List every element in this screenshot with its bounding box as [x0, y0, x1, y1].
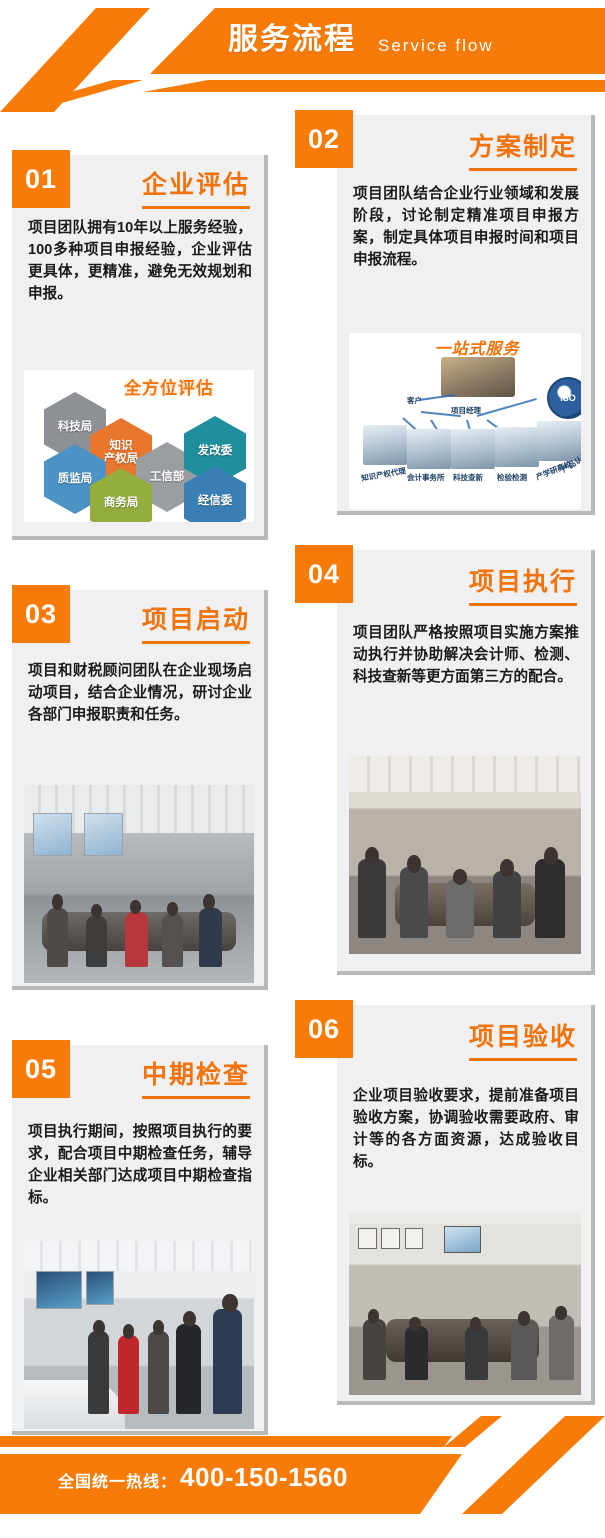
- hexagon-label: 发改委: [198, 445, 233, 458]
- card-text-04: 项目团队严格按照项目实施方案推动执行并协助解决会计师、检测、科技查新等更方面第三…: [353, 622, 579, 688]
- figure-photo-conference-table: [349, 756, 581, 954]
- card-title-05: 中期检查: [142, 1059, 250, 1099]
- figure-photo-meeting-room: [24, 785, 254, 983]
- footer-orange-stripe: [0, 1436, 605, 1447]
- hexagon-label: 质监局: [58, 473, 93, 486]
- step-card-03[interactable]: 项目启动 项目和财税顾问团队在企业现场启动项目，结合企业情况，研讨企业各部门申报…: [12, 590, 268, 990]
- header-diagonal-wedge: [0, 8, 190, 112]
- hexagon-label: 商务局: [104, 497, 139, 510]
- hexagon-label: 经信委: [198, 495, 233, 508]
- onestop-label-ipdaili: 知识产权代理: [360, 465, 406, 484]
- step-badge-06: 06: [295, 1000, 353, 1058]
- onestop-label-kuaiji: 会计事务所: [407, 472, 445, 483]
- step-badge-02: 02: [295, 110, 353, 168]
- iso-seal-icon: ISO: [547, 377, 581, 419]
- step-badge-05: 05: [12, 1040, 70, 1098]
- card-title-01: 企业评估: [142, 169, 250, 209]
- card-text-02: 项目团队结合企业行业领域和发展阶段，讨论制定精准项目申报方案，制定具体项目申报时…: [353, 183, 579, 271]
- hexagon-label: 知识 产权局: [104, 440, 139, 466]
- step-card-05[interactable]: 中期检查 项目执行期间，按照项目执行的要求，配合项目中期检查任务，辅导企业相关部…: [12, 1045, 268, 1435]
- card-title-06: 项目验收: [469, 1021, 577, 1061]
- step-badge-01: 01: [12, 150, 70, 208]
- card-text-01: 项目团队拥有10年以上服务经验，100多种项目申报经验，企业评估更具体，更精准，…: [28, 217, 252, 305]
- onestop-node-3: [451, 429, 495, 469]
- page-header: 服务流程 Service flow: [0, 0, 605, 112]
- card-title-03: 项目启动: [142, 604, 250, 644]
- page-title: 服务流程: [228, 18, 356, 62]
- hexagon-figure-title: 全方位评估: [124, 374, 214, 399]
- page-footer: 全国统一热线： 400-150-1560: [0, 1416, 605, 1538]
- step-card-02[interactable]: 方案制定 项目团队结合企业行业领域和发展阶段，讨论制定精准项目申报方案，制定具体…: [337, 115, 595, 515]
- figure-photo-lobby-visit: [24, 1241, 254, 1429]
- step-card-06[interactable]: 项目验收 企业项目验收要求，提前准备项目验收方案，协调验收需要政府、审计等的各方…: [337, 1005, 595, 1405]
- page-subtitle: Service flow: [378, 30, 494, 62]
- card-title-04: 项目执行: [469, 566, 577, 606]
- onestop-node-2: [407, 429, 451, 469]
- card-title-02: 方案制定: [469, 131, 577, 171]
- card-text-06: 企业项目验收要求，提前准备项目验收方案，协调验收需要政府、审计等的各方面资源，达…: [353, 1085, 579, 1173]
- step-card-01[interactable]: 企业评估 项目团队拥有10年以上服务经验，100多种项目申报经验，企业评估更具体…: [12, 155, 268, 540]
- step-badge-03: 03: [12, 585, 70, 643]
- step-badge-04: 04: [295, 545, 353, 603]
- onestop-label-chaxin: 科技查新: [453, 472, 483, 483]
- figure-one-stop-service: 一站式服务 客户 项目经理 知识产权代理 会计事务所 科技查新: [349, 333, 581, 509]
- service-flow-infographic: 服务流程 Service flow 企业评估 项目团队拥有10年以上服务经验，1…: [0, 0, 605, 1538]
- card-text-03: 项目和财税顾问团队在企业现场启动项目，结合企业情况，研讨企业各部门申报职责和任务…: [28, 660, 252, 726]
- step-card-04[interactable]: 项目执行 项目团队严格按照项目实施方案推动执行并协助解决会计师、检测、科技查新等…: [337, 550, 595, 975]
- onestop-figure-title: 一站式服务: [359, 335, 581, 359]
- hexagon-label: 科技局: [58, 421, 93, 434]
- hotline-label: 全国统一热线：: [58, 1468, 177, 1492]
- onestop-node-4: [495, 427, 539, 467]
- card-text-05: 项目执行期间，按照项目执行的要求，配合项目中期检查任务，辅导企业相关部门达成项目…: [28, 1121, 252, 1209]
- figure-hexagon-infographic: 全方位评估 科技局 知识 产权局 质监局 工信部 商务局 发改委: [24, 370, 254, 522]
- figure-photo-boardroom: [349, 1213, 581, 1395]
- onestop-center-photo: [441, 357, 515, 397]
- onestop-node-1: [363, 425, 407, 465]
- onestop-label-jianyan: 检验检测: [497, 472, 527, 483]
- hotline-number[interactable]: 400-150-1560: [180, 1462, 348, 1493]
- hexagon-label: 工信部: [150, 471, 185, 484]
